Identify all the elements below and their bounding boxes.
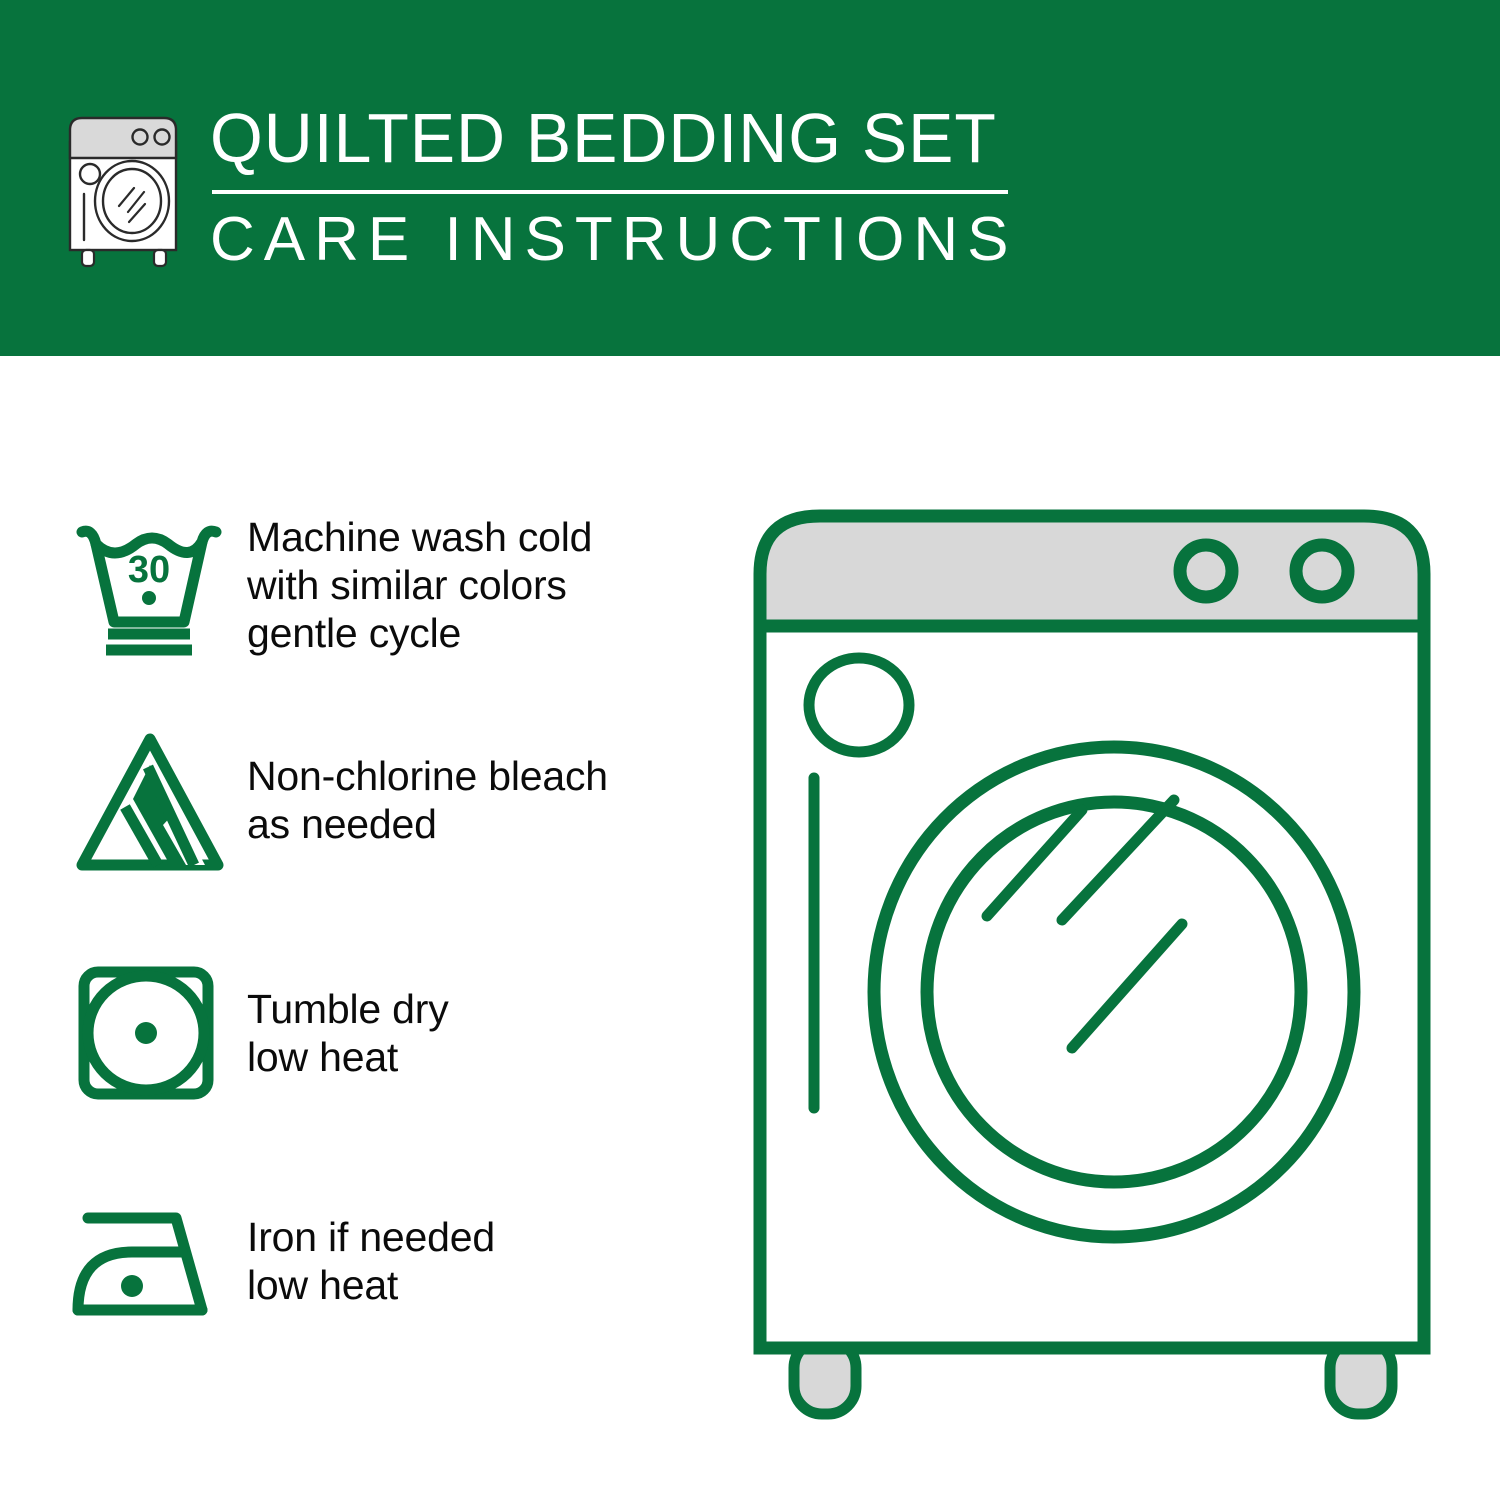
non-chlorine-bleach-icon	[70, 725, 230, 875]
care-row-label: Tumble dry low heat	[247, 985, 710, 1081]
header-banner: QUILTED BEDDING SET CARE INSTRUCTIONS	[0, 0, 1500, 356]
tumble-dry-low-symbol	[70, 958, 235, 1108]
header-content: QUILTED BEDDING SET CARE INSTRUCTIONS	[62, 100, 1021, 276]
washing-machine-illustration	[742, 500, 1442, 1420]
wash-temperature-label: 30	[128, 549, 170, 591]
control-knob[interactable]	[1296, 545, 1348, 597]
detergent-dispenser[interactable]	[809, 658, 909, 752]
care-row-iron: Iron if needed low heat	[70, 1186, 710, 1336]
iron-low-heat-symbol	[70, 1186, 235, 1336]
tumble-dry-low-icon	[70, 958, 230, 1108]
title-divider	[212, 190, 1008, 194]
page-subtitle: CARE INSTRUCTIONS	[210, 206, 1021, 274]
control-knob[interactable]	[1180, 545, 1232, 597]
care-row-tumble-dry: Tumble dry low heat	[70, 958, 710, 1108]
iron-low-heat-icon	[70, 1186, 230, 1336]
care-row-machine-wash: 30 Machine wash cold with similar colors…	[70, 510, 710, 660]
non-chlorine-bleach-symbol	[70, 725, 235, 875]
care-row-bleach: Non-chlorine bleach as needed	[70, 725, 710, 875]
washing-machine-icon	[62, 106, 190, 276]
care-row-label: Machine wash cold with similar colors ge…	[247, 513, 710, 657]
care-row-label: Iron if needed low heat	[247, 1213, 710, 1309]
care-row-label: Non-chlorine bleach as needed	[247, 752, 710, 848]
machine-wash-30-gentle-icon: 30	[70, 510, 230, 660]
header-title-group: QUILTED BEDDING SET CARE INSTRUCTIONS	[210, 100, 1021, 274]
page-title: QUILTED BEDDING SET	[210, 100, 997, 176]
machine-wash-30-gentle-symbol: 30	[70, 510, 235, 660]
